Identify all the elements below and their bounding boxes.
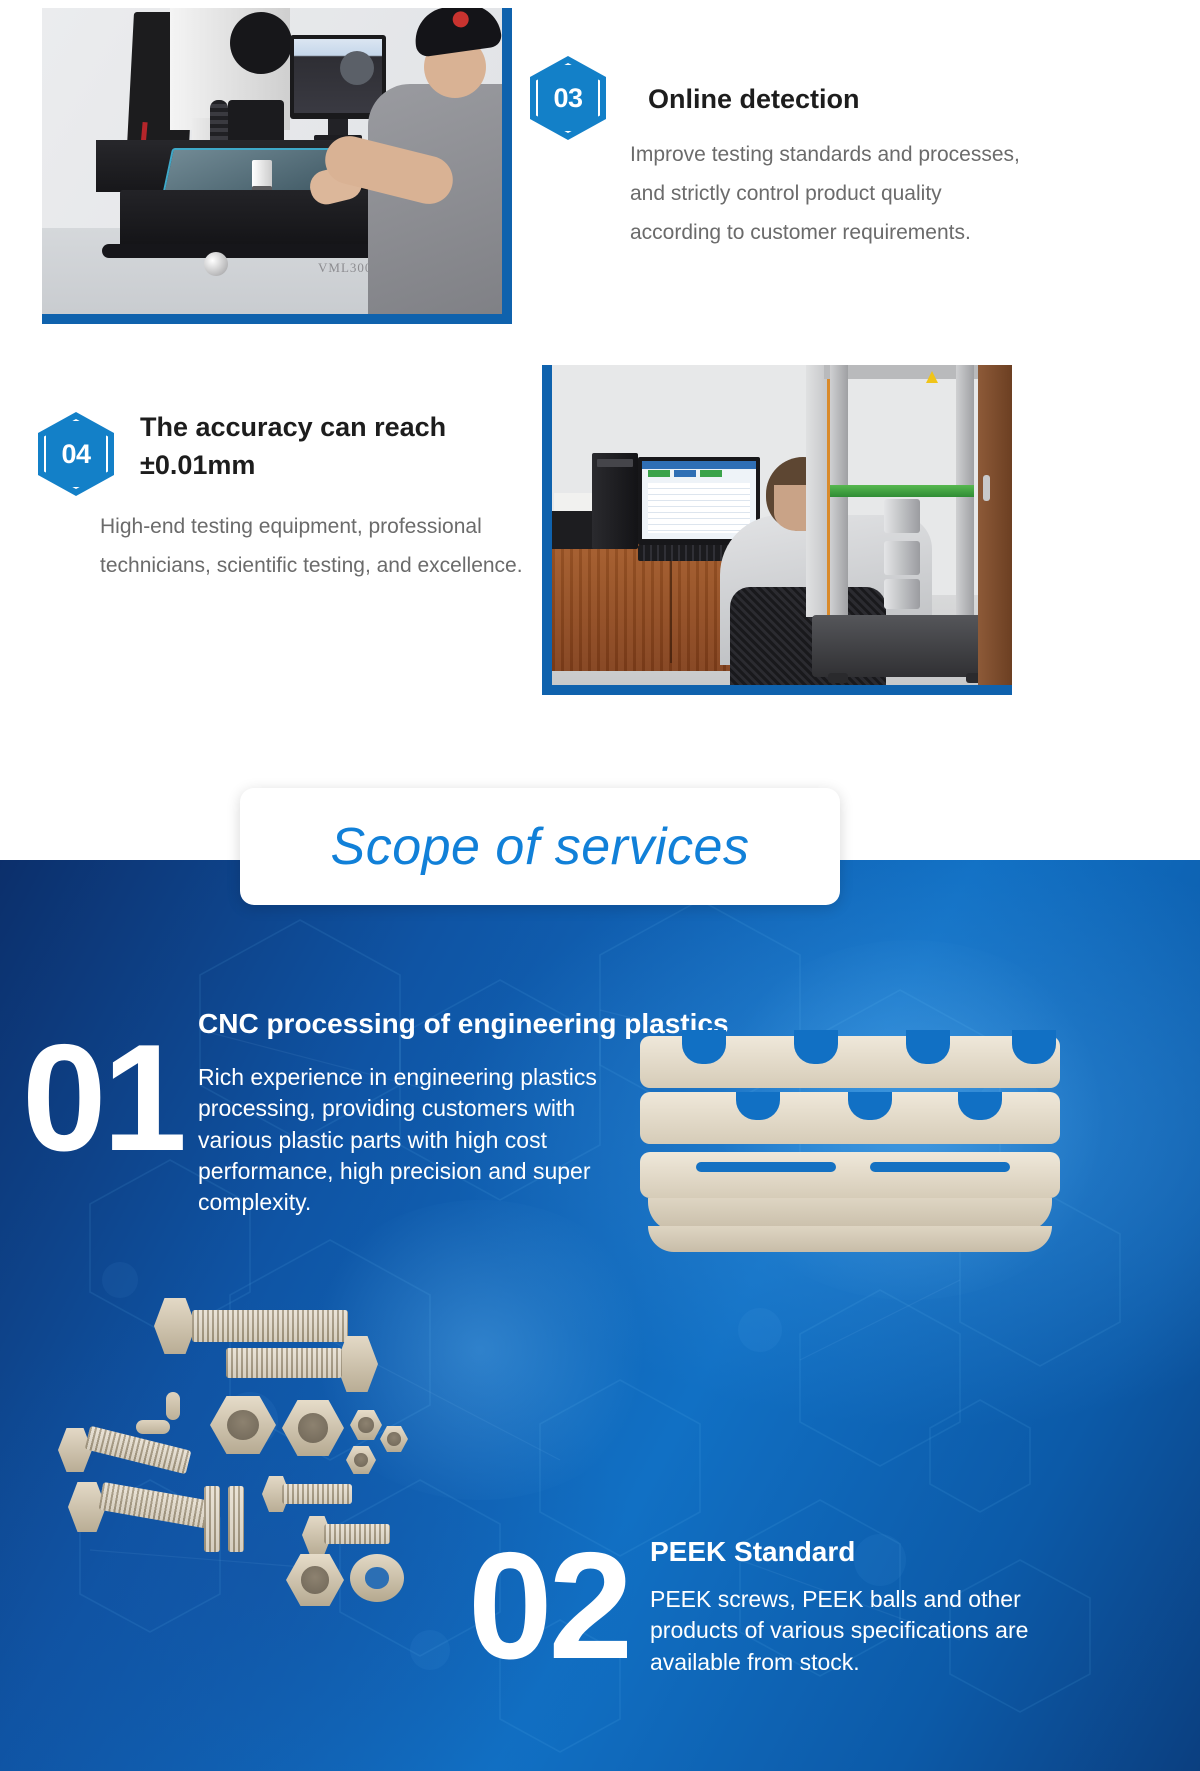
feature-title-accuracy: The accuracy can reach ±0.01mm [140, 408, 520, 485]
scope-title-card: Scope of services [240, 788, 840, 905]
scope-number-02: 02 [468, 1530, 629, 1682]
feature-badge-number: 04 [38, 412, 114, 496]
machine-model-label: VML300 [318, 260, 372, 276]
features-section: VML300 03 Online detection Improve testi… [0, 0, 1200, 860]
feature-title-online-detection: Online detection [648, 80, 1068, 118]
tensile-testing-photo [552, 365, 1012, 685]
feature-body-accuracy: High-end testing equipment, professional… [100, 508, 530, 586]
scope-title-02: PEEK Standard [650, 1536, 1110, 1568]
tensile-testing-photo-frame [542, 365, 1012, 695]
peek-bolts-image [50, 1280, 480, 1560]
feature-badge-04: 04 [38, 412, 114, 496]
feature-badge-number: 03 [530, 56, 606, 140]
feature-badge-03: 03 [530, 56, 606, 140]
scope-body-02: PEEK screws, PEEK balls and other produc… [650, 1584, 1050, 1678]
online-detection-photo: VML300 [42, 8, 502, 314]
scope-number-01: 01 [22, 1022, 183, 1174]
scope-body-01: Rich experience in engineering plastics … [198, 1062, 628, 1218]
scope-title: Scope of services [331, 817, 750, 877]
feature-body-online-detection: Improve testing standards and processes,… [630, 136, 1020, 253]
peek-machined-part-image [640, 1030, 1060, 1280]
online-detection-photo-frame: VML300 [42, 8, 512, 324]
